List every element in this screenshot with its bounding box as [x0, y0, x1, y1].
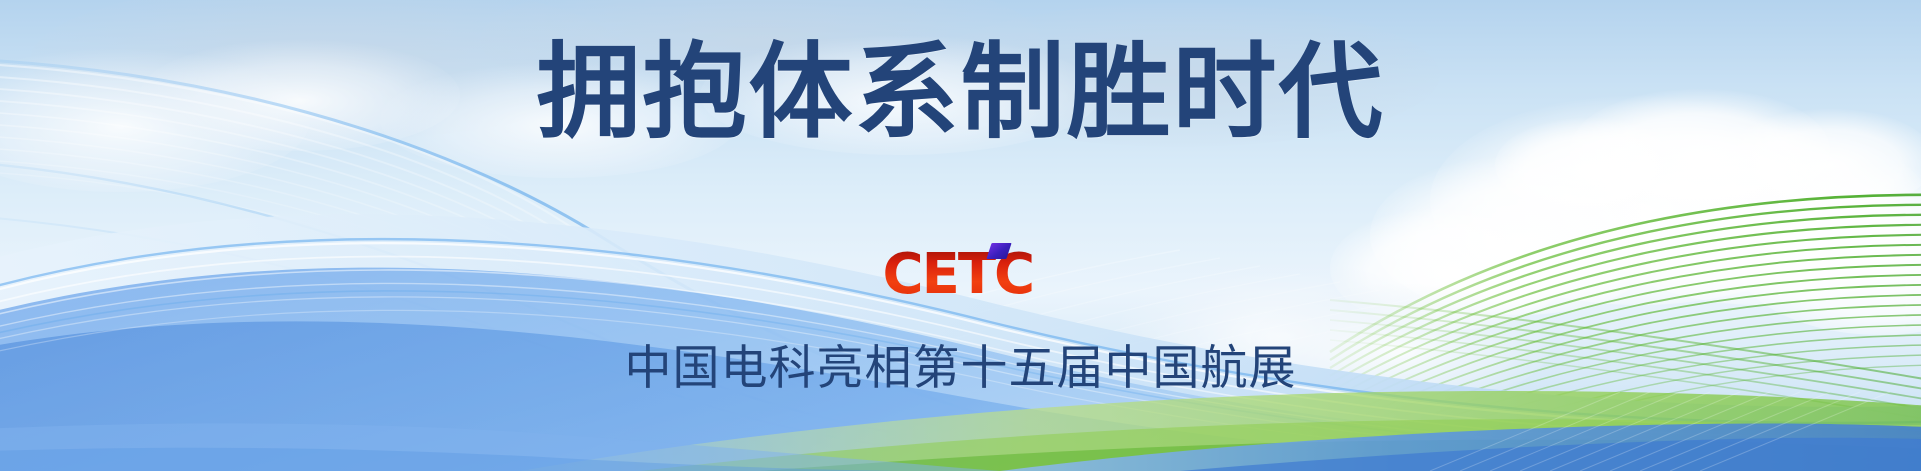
- cetc-airshow-banner: 拥抱体系制胜时代 CETC 中国电科亮相第十五届中国航展: [0, 0, 1921, 471]
- banner-background-artwork: [0, 0, 1921, 471]
